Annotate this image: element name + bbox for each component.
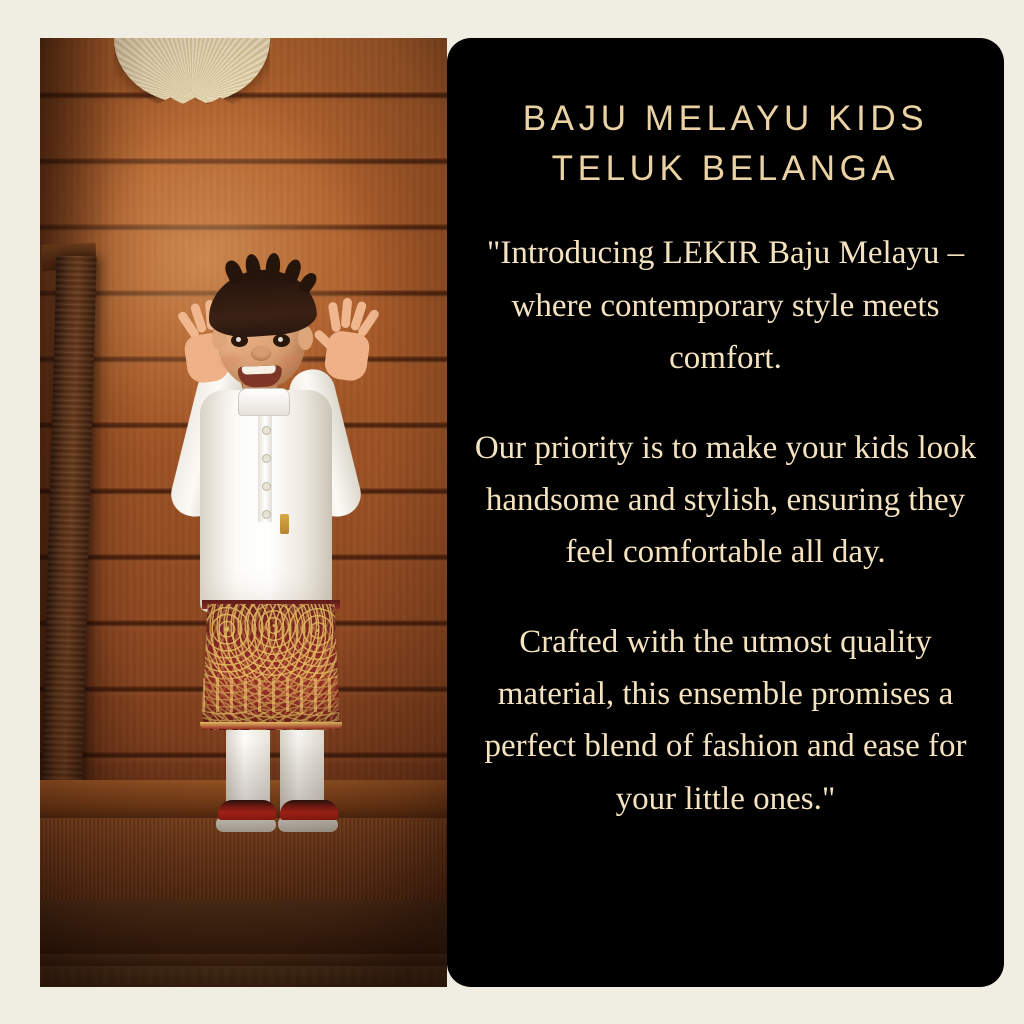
sampin-hem	[200, 722, 342, 729]
hand-right	[323, 329, 371, 382]
baju-button-2	[262, 454, 271, 463]
cheek-right	[280, 354, 302, 368]
description-block: "Introducing LEKIR Baju Melayu – where c…	[469, 227, 982, 824]
nose	[251, 346, 271, 361]
page-title: BAJU MELAYU KIDS TELUK BELANGA	[469, 94, 982, 193]
mandarin-collar	[238, 388, 290, 416]
teeth	[242, 365, 276, 374]
finger-right-4	[328, 301, 342, 332]
description-paragraph: Crafted with the utmost quality material…	[469, 616, 982, 825]
product-promo-poster: BAJU MELAYU KIDS TELUK BELANGA "Introduc…	[0, 0, 1024, 1024]
eye-right	[273, 334, 290, 347]
baju-button-3	[262, 482, 271, 491]
hair-spike-3	[265, 252, 282, 280]
baju-button-1	[262, 426, 271, 435]
sampin-motif-band	[202, 678, 340, 712]
text-panel: BAJU MELAYU KIDS TELUK BELANGA "Introduc…	[447, 38, 1004, 987]
text-panel-content: BAJU MELAYU KIDS TELUK BELANGA "Introduc…	[447, 94, 1004, 825]
title-line-1: BAJU MELAYU KIDS	[469, 94, 982, 144]
description-paragraph: Our priority is to make your kids look h…	[469, 422, 982, 578]
baju-button-4	[262, 510, 271, 519]
wall-shadow-bottom	[40, 740, 447, 987]
title-line-2: TELUK BELANGA	[469, 144, 982, 194]
product-photo	[40, 38, 447, 987]
description-paragraph: "Introducing LEKIR Baju Melayu – where c…	[469, 227, 982, 383]
cheek-left	[220, 354, 242, 368]
brand-tag	[280, 514, 289, 534]
